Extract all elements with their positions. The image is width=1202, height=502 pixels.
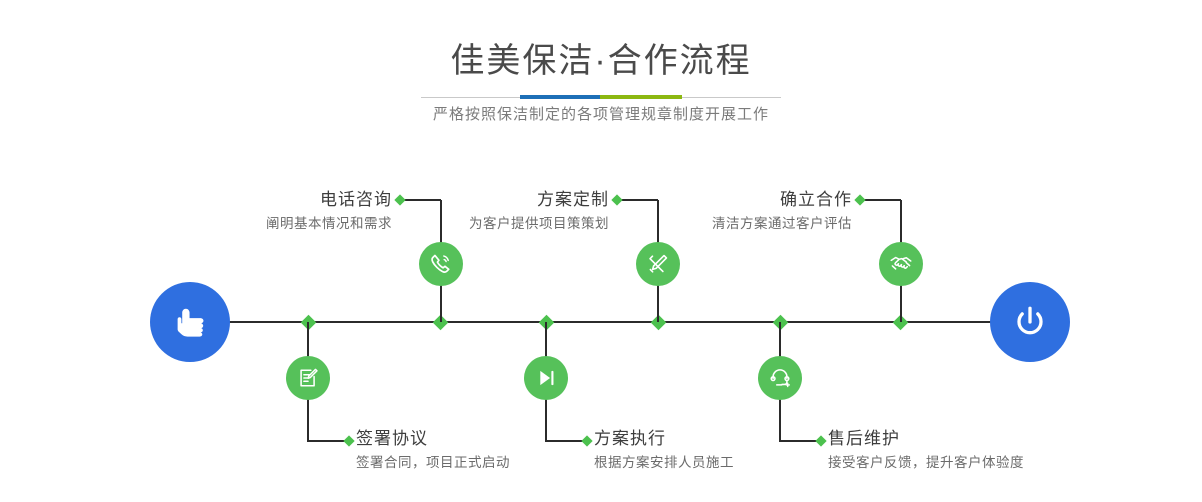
step-2-label-tip bbox=[343, 435, 354, 446]
step-6-desc: 接受客户反馈，提升客户体验度 bbox=[828, 456, 1158, 470]
start-endpoint-pointing-hand bbox=[150, 282, 230, 362]
flow-diagram-canvas: 佳美保洁·合作流程 严格按照保洁制定的各项管理规章制度开展工作 bbox=[0, 0, 1202, 502]
step-3-title: 方案定制 bbox=[357, 191, 609, 208]
step-4-icon-circle[interactable] bbox=[524, 356, 568, 400]
step-4-label-connector-vertical bbox=[545, 414, 547, 441]
pencil-design-icon bbox=[645, 251, 671, 277]
step-1-desc: 阐明基本情况和需求 bbox=[140, 217, 392, 231]
step-1-icon-circle[interactable] bbox=[419, 242, 463, 286]
step-3-label: 方案定制 为客户提供项目策策划 bbox=[357, 191, 609, 231]
step-6-title: 售后维护 bbox=[828, 430, 1158, 447]
step-3-desc: 为客户提供项目策策划 bbox=[357, 217, 609, 231]
step-1-title: 电话咨询 bbox=[140, 191, 392, 208]
step-6-label: 售后维护 接受客户反馈，提升客户体验度 bbox=[828, 430, 1158, 470]
page-subtitle: 严格按照保洁制定的各项管理规章制度开展工作 bbox=[0, 107, 1202, 122]
step-6-label-connector-vertical bbox=[779, 414, 781, 441]
pointing-hand-icon bbox=[168, 300, 212, 344]
step-5-icon-circle[interactable] bbox=[879, 242, 923, 286]
step-2-icon-circle[interactable] bbox=[286, 356, 330, 400]
divider-green-segment bbox=[600, 95, 682, 99]
step-3-icon-circle[interactable] bbox=[636, 242, 680, 286]
step-5-label-connector-horizontal bbox=[860, 199, 901, 201]
step-2-label-connector-horizontal bbox=[307, 440, 348, 442]
divider-blue-segment bbox=[520, 95, 600, 99]
handshake-icon bbox=[888, 251, 914, 277]
step-2-label-connector-vertical bbox=[307, 414, 309, 441]
step-1-label: 电话咨询 阐明基本情况和需求 bbox=[140, 191, 392, 231]
power-button-icon bbox=[1008, 300, 1052, 344]
step-5-label-connector-vertical bbox=[900, 200, 902, 242]
step-5-desc: 清洁方案通过客户评估 bbox=[600, 217, 852, 231]
end-endpoint-power bbox=[990, 282, 1070, 362]
phone-ringing-icon bbox=[428, 251, 454, 277]
step-6-icon-circle[interactable] bbox=[758, 356, 802, 400]
step-5-label: 确立合作 清洁方案通过客户评估 bbox=[600, 191, 852, 231]
document-sign-icon bbox=[295, 365, 321, 391]
page-title: 佳美保洁·合作流程 bbox=[0, 44, 1202, 78]
step-5-label-tip bbox=[854, 194, 865, 205]
headset-support-icon bbox=[767, 365, 793, 391]
step-4-label-connector-horizontal bbox=[545, 440, 586, 442]
step-5-title: 确立合作 bbox=[600, 191, 852, 208]
play-execute-icon bbox=[533, 365, 559, 391]
title-divider bbox=[421, 95, 781, 99]
step-6-label-connector-horizontal bbox=[779, 440, 820, 442]
